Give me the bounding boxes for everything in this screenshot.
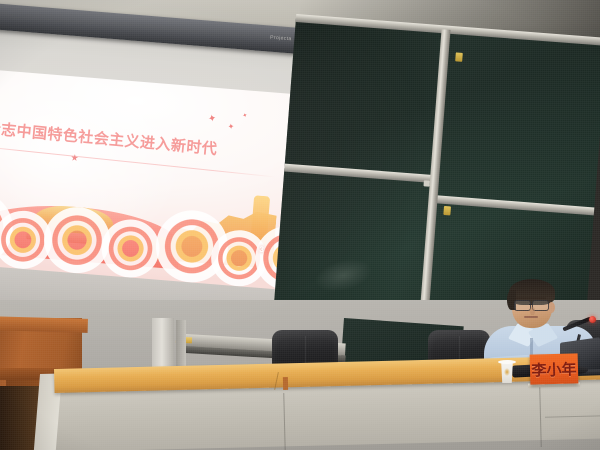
podium-top-surface: [0, 316, 88, 333]
paper-cup-logo: [504, 368, 510, 376]
dove-icon: ✦: [242, 112, 249, 120]
blackboard-peg: [455, 52, 463, 62]
name-placard: 李小年: [530, 353, 579, 384]
mouth: [524, 316, 538, 318]
nose: [530, 307, 535, 315]
ear: [548, 302, 555, 313]
eyebrows: [515, 297, 546, 299]
projector-screen: 几大标志中国特色社会主义进入新时代 ★ ✦ ✦ ✦: [0, 12, 313, 338]
paper-cup-rim: [498, 360, 516, 364]
glasses-lens-left: [514, 300, 531, 311]
blackboard-screw: [423, 180, 429, 186]
projected-slide: 几大标志中国特色社会主义进入新时代 ★ ✦ ✦ ✦: [0, 68, 302, 290]
glasses-bridge: [529, 304, 532, 305]
star-icon: ★: [70, 152, 79, 164]
slide-artwork: 3: [0, 172, 294, 290]
lecture-hall-photo: 几大标志中国特色社会主义进入新时代 ★ ✦ ✦ ✦: [0, 0, 600, 450]
blackboard-peg: [443, 206, 451, 216]
slide-number: 3: [259, 245, 264, 254]
dove-icon: ✦: [227, 122, 235, 132]
name-placard-text: 李小年: [531, 358, 577, 380]
screen-surface: 几大标志中国特色社会主义进入新时代 ★ ✦ ✦ ✦: [0, 18, 312, 331]
desk-joint-bracket: [283, 377, 288, 390]
microphone-indicator-light: [589, 316, 596, 323]
dove-icon: ✦: [207, 113, 218, 126]
housing-brand-label: Projecta: [270, 35, 292, 43]
